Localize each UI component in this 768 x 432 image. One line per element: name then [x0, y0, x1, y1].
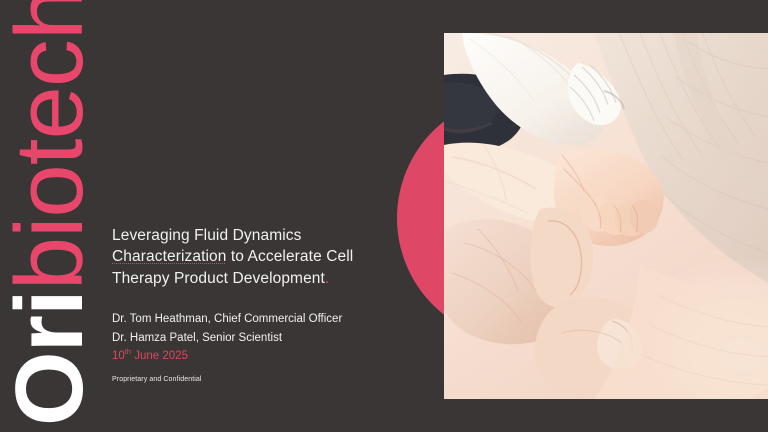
title-line-2-rest: to Accelerate Cell [226, 248, 353, 265]
hero-photo-illustration [444, 33, 768, 399]
ori-biotech-logo: Oribiotech [0, 0, 108, 432]
presenter-list: Dr. Tom Heathman, Chief Commercial Offic… [112, 310, 400, 366]
title-accent-period: . [325, 270, 329, 287]
presentation-date: 10th June 2025 [112, 347, 400, 366]
date-day: 10 [112, 350, 125, 362]
logo-word-ori: Ori [0, 290, 103, 426]
logo-textmark: Oribiotech [2, 0, 98, 432]
presentation-slide: Oribiotech [0, 0, 768, 432]
presenter-1: Dr. Tom Heathman, Chief Commercial Offic… [112, 310, 400, 329]
title-misspelled-word: Characterization [112, 248, 226, 265]
confidentiality-notice: Proprietary and Confidential [112, 375, 400, 384]
logo-rotated-group: Oribiotech [0, 0, 108, 432]
date-rest: June 2025 [131, 350, 188, 362]
slide-text-block: Leveraging Fluid DynamicsCharacterizatio… [112, 225, 400, 384]
presenter-2: Dr. Hamza Patel, Senior Scientist [112, 329, 400, 348]
logo-word-biotech: biotech [0, 0, 103, 290]
hero-photo [444, 33, 768, 399]
page-title: Leveraging Fluid DynamicsCharacterizatio… [112, 225, 400, 289]
title-line-1: Leveraging Fluid Dynamics [112, 227, 301, 244]
title-line-3: Therapy Product Development [112, 270, 325, 287]
